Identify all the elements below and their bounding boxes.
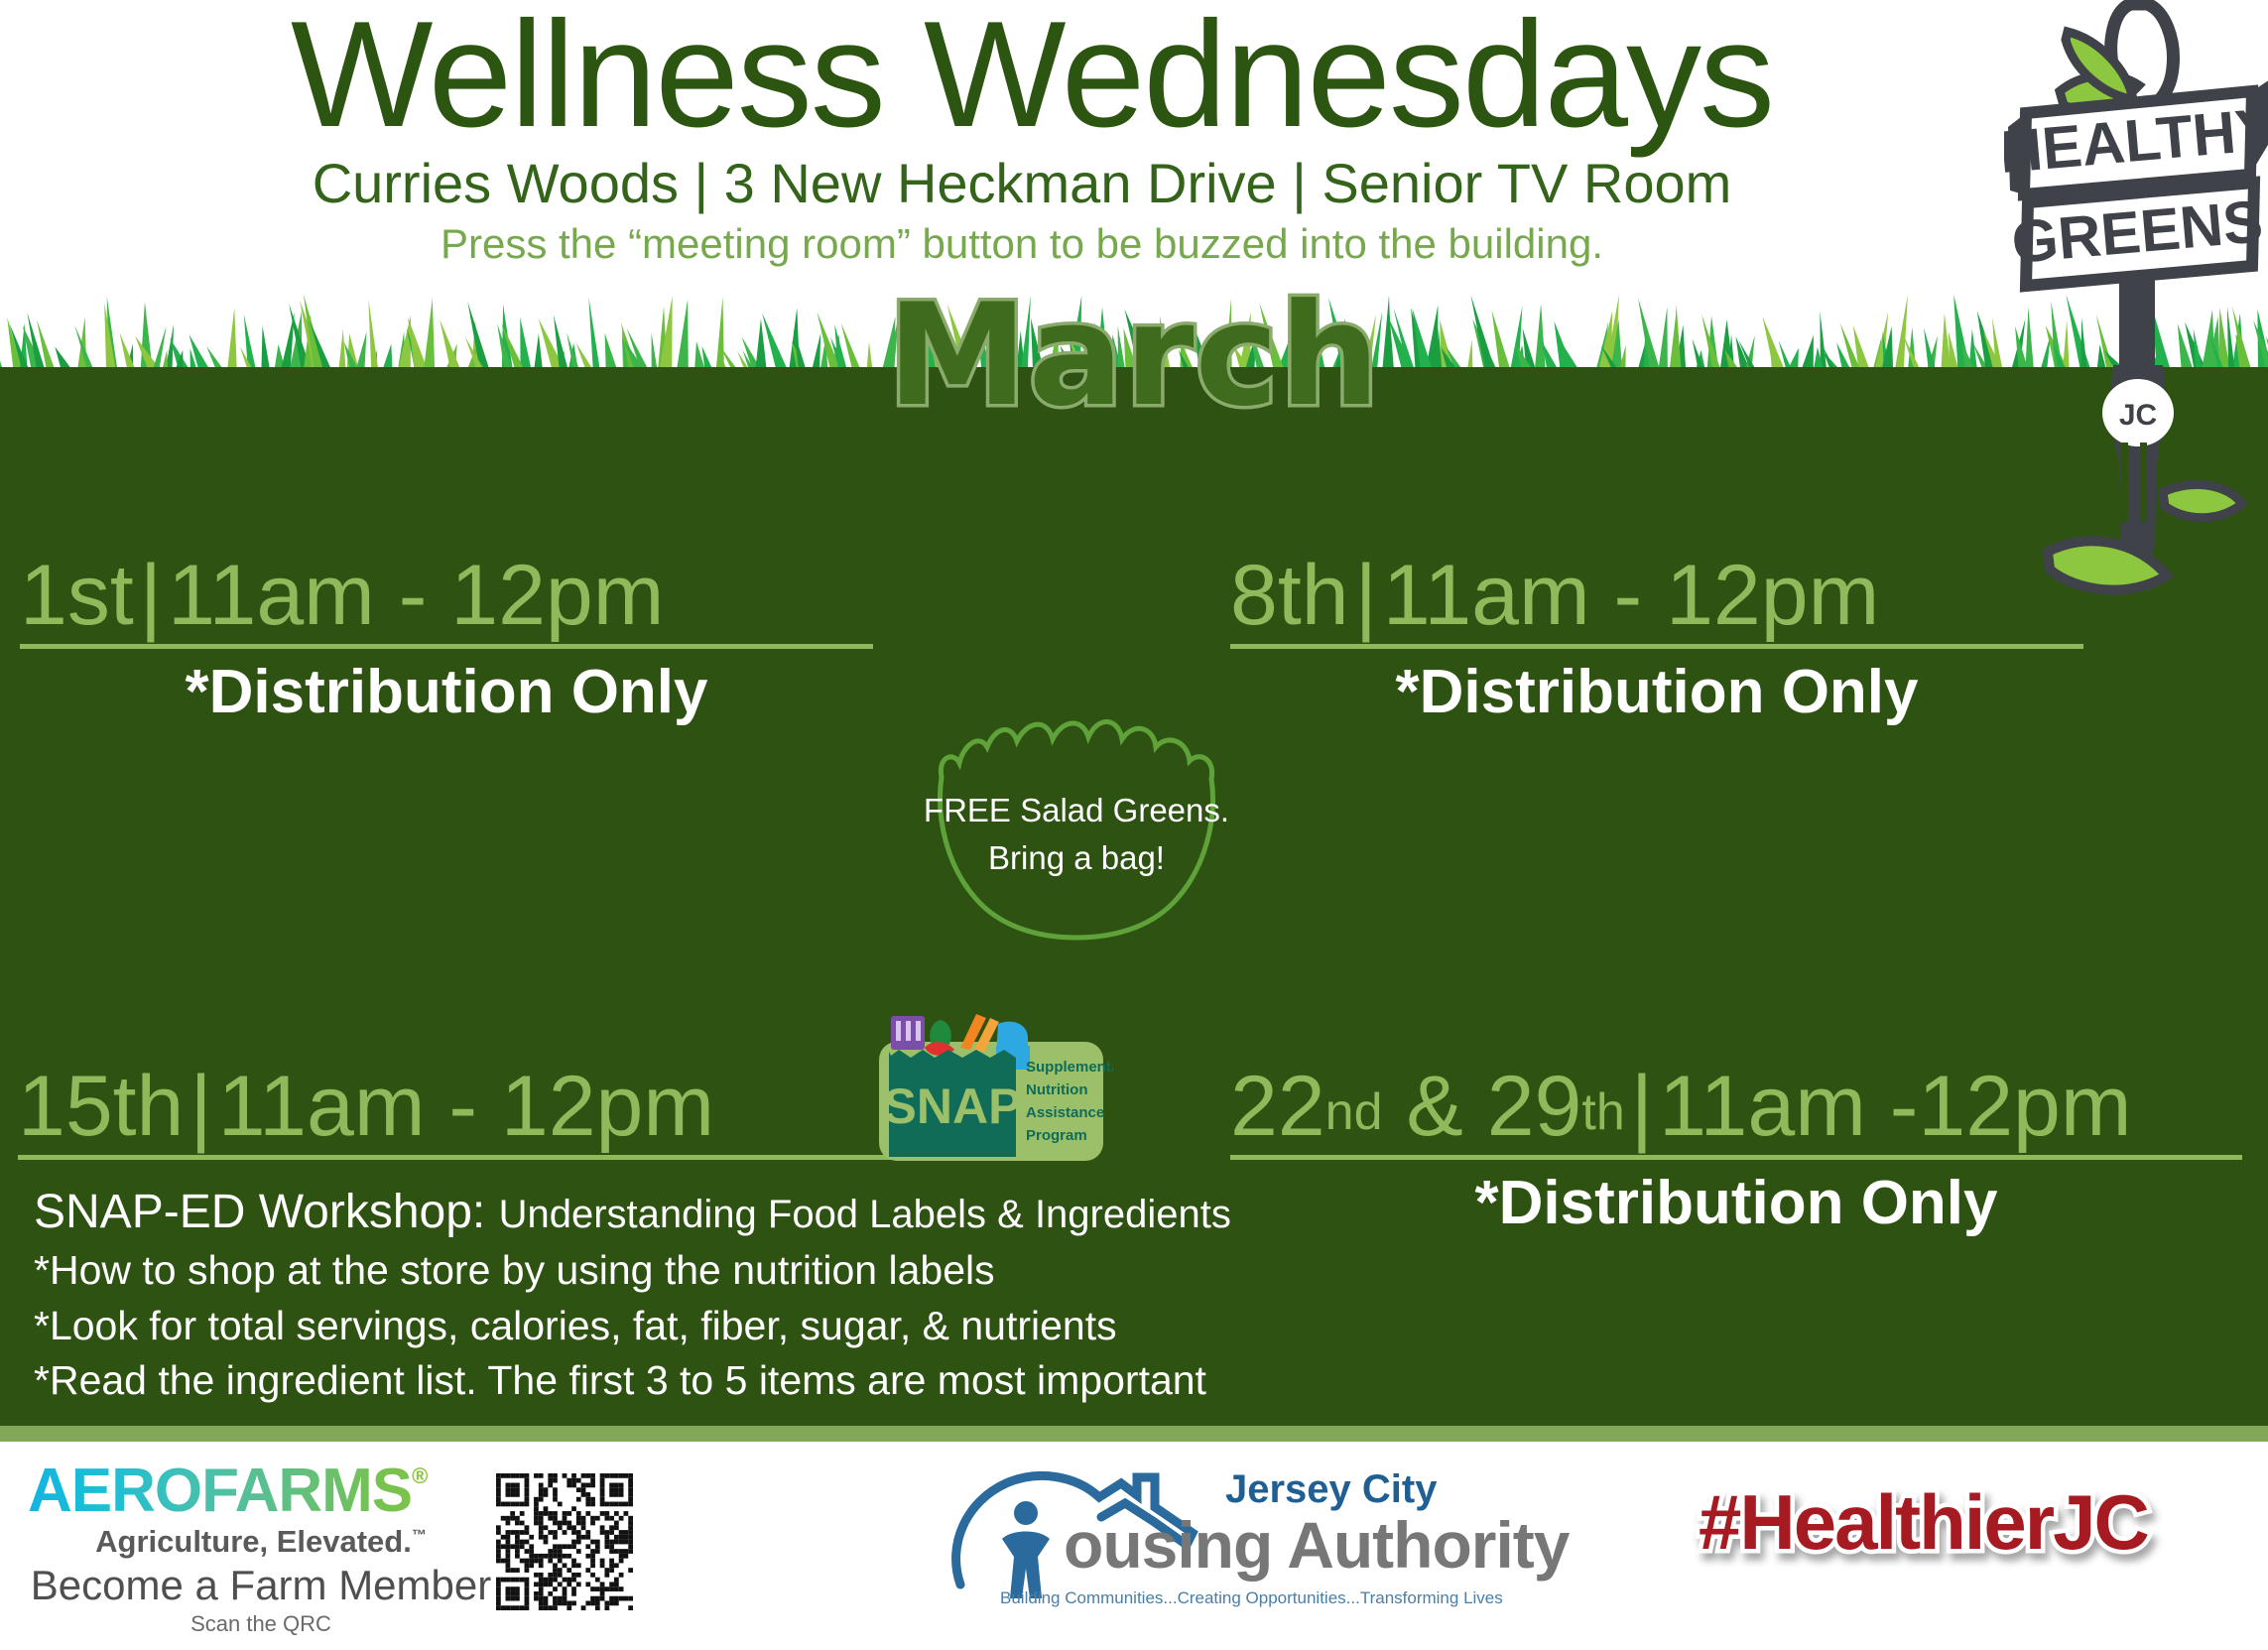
session-day-15: 15th (18, 1059, 184, 1154)
session-sep-22: | (1625, 1059, 1659, 1154)
footer-divider (0, 1426, 2268, 1442)
session-rule-1 (20, 644, 873, 649)
session-day2-22: 29 (1487, 1059, 1582, 1154)
bowl-line-1: FREE Salad Greens. (908, 787, 1245, 834)
snap-acronym: SNAP (884, 1079, 1022, 1134)
session-note-1: *Distribution Only (20, 657, 873, 727)
session-day-8: 8th (1230, 548, 1349, 643)
jcha-tagline: Building Communities...Creating Opportun… (1000, 1588, 1503, 1608)
session-date-time-22: 22nd & 29th|11am -12pm (1230, 1062, 2242, 1151)
session-day-1: 1st (20, 548, 134, 643)
aerofarms-logo: AEROFARMS® Agriculture, Elevated.™ Becom… (28, 1456, 494, 1637)
jcha-jersey-city: Jersey City (1225, 1467, 1437, 1512)
aerofarms-tagline-text: Agriculture, Elevated. (95, 1524, 412, 1559)
trademark-icon: ™ (412, 1527, 427, 1544)
bowl-text: FREE Salad Greens. Bring a bag! (908, 787, 1245, 882)
session-day-22: 22 (1230, 1059, 1325, 1154)
healthier-jc-logo: #HealthierJC (1699, 1477, 2148, 1568)
workshop-heading: SNAP-ED Workshop: (34, 1186, 485, 1238)
session-block-1: 1st|11am - 12pm *Distribution Only (20, 551, 873, 727)
workshop-bullet: *How to shop at the store by using the n… (34, 1243, 1323, 1298)
bowl-line-2: Bring a bag! (908, 834, 1245, 882)
session-date-time-1: 1st|11am - 12pm (20, 551, 873, 640)
jcha-housing-authority: ousing Authority (1064, 1507, 1570, 1583)
header: Wellness Wednesdays Curries Woods | 3 Ne… (0, 0, 2268, 298)
snap-line-1: Supplemental (1026, 1059, 1113, 1076)
session-block-15: 15th|11am - 12pm (18, 1062, 891, 1160)
aerofarms-tagline: Agriculture, Elevated.™ (28, 1524, 494, 1560)
page-title: Wellness Wednesdays (0, 0, 2064, 162)
session-sep-8: | (1349, 548, 1383, 643)
aerofarms-word-text: AEROFARMS (28, 1457, 412, 1525)
workshop-heading-row: SNAP-ED Workshop: Understanding Food Lab… (34, 1181, 1323, 1243)
jcha-logo: Jersey City ousing Authority Building Co… (943, 1461, 1439, 1630)
snap-line-2: Nutrition (1026, 1081, 1087, 1098)
session-note-22: *Distribution Only (1230, 1168, 2242, 1238)
workshop-topic: Understanding Food Labels & Ingredients (499, 1193, 1231, 1236)
registered-icon: ® (412, 1463, 427, 1488)
session-time-8: 11am - 12pm (1383, 548, 1879, 643)
aerofarms-wordmark: AEROFARMS® (28, 1456, 494, 1526)
workshop-bullet: *Read the ingredient list. The first 3 t… (34, 1353, 1323, 1408)
entry-instruction: Press the “meeting room” button to be bu… (0, 220, 2044, 268)
session-ordinal-22: nd (1325, 1083, 1383, 1141)
session-amp-22: & (1406, 1059, 1462, 1154)
aerofarms-cta: Become a Farm Member (28, 1562, 494, 1609)
session-time-22: 11am -12pm (1659, 1059, 2131, 1154)
session-time-15: 11am - 12pm (218, 1059, 714, 1154)
session-block-22: 22nd & 29th|11am -12pm *Distribution Onl… (1230, 1062, 2242, 1238)
workshop-details: SNAP-ED Workshop: Understanding Food Lab… (34, 1181, 1323, 1408)
month-title: March (0, 274, 2268, 438)
session-note-8: *Distribution Only (1230, 657, 2083, 727)
greens-icon (930, 1020, 951, 1046)
session-sep-15: | (184, 1059, 217, 1154)
session-time-1: 11am - 12pm (168, 548, 664, 643)
session-rule-22 (1230, 1155, 2242, 1160)
session-rule-15 (18, 1155, 891, 1160)
location-line: Curries Woods | 3 New Heckman Drive | Se… (0, 151, 2044, 215)
workshop-bullet: *Look for total servings, calories, fat,… (34, 1299, 1323, 1353)
snap-line-4: Program (1026, 1127, 1087, 1144)
aerofarms-scan-note: Scan the QRC (28, 1611, 494, 1637)
session-ordinal2-22: th (1581, 1083, 1624, 1141)
session-date-time-15: 15th|11am - 12pm (18, 1062, 891, 1151)
session-rule-8 (1230, 644, 2083, 649)
salad-bowl-graphic: FREE Salad Greens. Bring a bag! (908, 699, 1245, 948)
snap-line-3: Assistance (1026, 1104, 1104, 1121)
session-block-8: 8th|11am - 12pm *Distribution Only (1230, 551, 2083, 727)
qr-code-icon (496, 1473, 633, 1610)
session-sep-1: | (134, 548, 168, 643)
snap-logo: SNAP Supplemental Nutrition Assistance P… (865, 1012, 1113, 1166)
session-date-time-8: 8th|11am - 12pm (1230, 551, 2083, 640)
qr-code[interactable] (496, 1473, 633, 1610)
flyer-root: Wellness Wednesdays Curries Woods | 3 Ne… (0, 0, 2268, 1650)
footer: AEROFARMS® Agriculture, Elevated.™ Becom… (0, 1442, 2268, 1650)
